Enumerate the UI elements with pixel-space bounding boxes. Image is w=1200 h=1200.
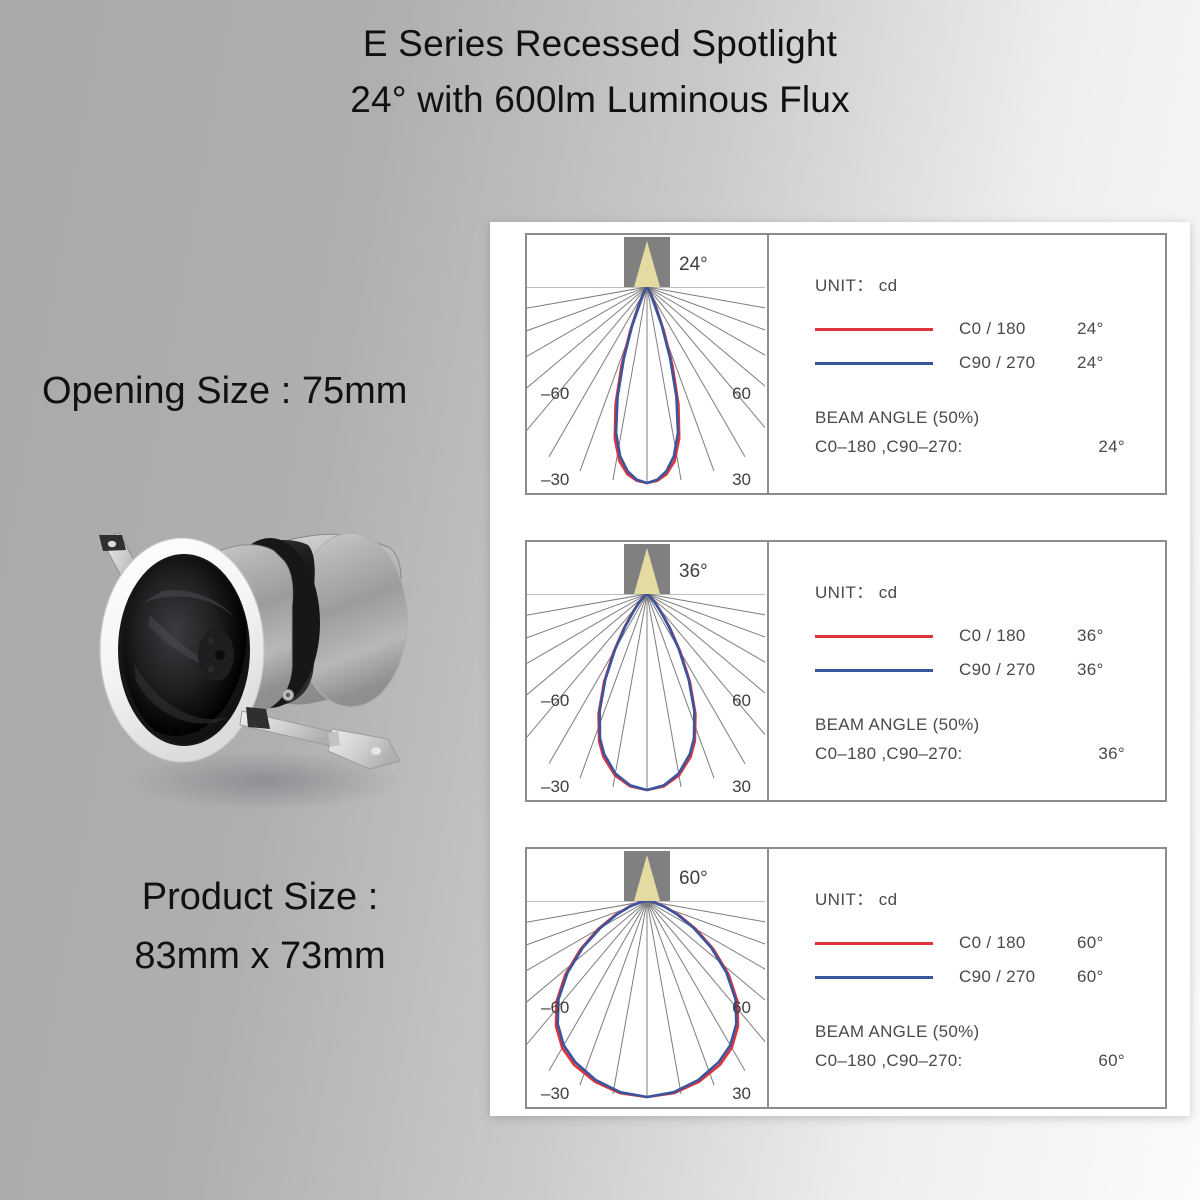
legend-label-c0: C0 / 180 bbox=[959, 933, 1077, 953]
beam-angle-value: 36° bbox=[1098, 744, 1125, 764]
beam-angle-block: BEAM ANGLE (50%) C0–180 ,C90–270: 60° bbox=[815, 1022, 1165, 1071]
legend-label-c90: C90 / 270 bbox=[959, 660, 1077, 680]
axis-tick-label: –60 bbox=[541, 691, 569, 710]
legend-24: UNIT： cd C0 / 180 24° C90 / 270 24° BEAM… bbox=[769, 235, 1165, 493]
legend-value-c90: 36° bbox=[1077, 660, 1104, 680]
beam-angle-title: BEAM ANGLE (50%) bbox=[815, 1022, 1165, 1042]
photometric-panel-24: 24°–6060–3030 UNIT： cd C0 / 180 24° C90 … bbox=[525, 233, 1167, 495]
legend-row-c0: C0 / 180 24° bbox=[815, 312, 1165, 346]
axis-tick-label: –30 bbox=[541, 470, 569, 489]
axis-tick-label: 30 bbox=[732, 777, 751, 796]
beam-angle-caption: 36° bbox=[679, 561, 708, 582]
beam-angle-caption: 24° bbox=[679, 254, 708, 275]
beam-angle-line: C0–180 ,C90–270: 60° bbox=[815, 1051, 1125, 1071]
title-line-1: E Series Recessed Spotlight bbox=[0, 16, 1200, 72]
polar-chart-60: 60°–6060–3030 bbox=[527, 849, 769, 1107]
axis-tick-label: 30 bbox=[732, 470, 751, 489]
photometric-panel-36: 36°–6060–3030 UNIT： cd C0 / 180 36° C90 … bbox=[525, 540, 1167, 802]
axis-tick-label: –30 bbox=[541, 1084, 569, 1103]
legend-value-c90: 24° bbox=[1077, 353, 1104, 373]
unit-label: UNIT： cd bbox=[815, 578, 1165, 603]
product-photo bbox=[70, 495, 440, 825]
polar-plot-svg: 36°–6060–3030 bbox=[527, 542, 765, 800]
product-size-value: 83mm x 73mm bbox=[60, 927, 460, 986]
legend-swatch-blue-icon bbox=[815, 362, 933, 365]
legend-row-c90: C90 / 270 24° bbox=[815, 346, 1165, 380]
legend-label-c0: C0 / 180 bbox=[959, 626, 1077, 646]
legend-row-c0: C0 / 180 60° bbox=[815, 926, 1165, 960]
title-line-2: 24° with 600lm Luminous Flux bbox=[0, 72, 1200, 128]
legend-36: UNIT： cd C0 / 180 36° C90 / 270 36° BEAM… bbox=[769, 542, 1165, 800]
body-screw bbox=[283, 690, 294, 701]
legend-value-c0: 60° bbox=[1077, 933, 1104, 953]
unit-label: UNIT： cd bbox=[815, 885, 1165, 910]
axis-tick-label: 60 bbox=[732, 998, 751, 1017]
beam-angle-block: BEAM ANGLE (50%) C0–180 ,C90–270: 36° bbox=[815, 715, 1165, 764]
beam-angle-title: BEAM ANGLE (50%) bbox=[815, 715, 1165, 735]
polar-chart-36: 36°–6060–3030 bbox=[527, 542, 769, 800]
legend-row-c90: C90 / 270 36° bbox=[815, 653, 1165, 687]
beam-angle-label: C0–180 ,C90–270: bbox=[815, 437, 1098, 457]
legend-value-c0: 36° bbox=[1077, 626, 1104, 646]
beam-angle-label: C0–180 ,C90–270: bbox=[815, 744, 1098, 764]
beam-angle-block: BEAM ANGLE (50%) C0–180 ,C90–270: 24° bbox=[815, 408, 1165, 457]
photometric-panel-60: 60°–6060–3030 UNIT： cd C0 / 180 60° C90 … bbox=[525, 847, 1167, 1109]
beam-angle-value: 60° bbox=[1098, 1051, 1125, 1071]
axis-tick-label: –30 bbox=[541, 777, 569, 796]
opening-size-label: Opening Size : 75mm bbox=[42, 370, 407, 413]
legend-swatch-blue-icon bbox=[815, 976, 933, 979]
product-size-label: Product Size : bbox=[60, 868, 460, 927]
legend-label-c0: C0 / 180 bbox=[959, 319, 1077, 339]
legend-swatch-red-icon bbox=[815, 328, 933, 331]
beam-angle-title: BEAM ANGLE (50%) bbox=[815, 408, 1165, 428]
legend-swatch-blue-icon bbox=[815, 669, 933, 672]
legend-swatch-red-icon bbox=[815, 942, 933, 945]
product-size-block: Product Size : 83mm x 73mm bbox=[60, 868, 460, 986]
polar-chart-24: 24°–6060–3030 bbox=[527, 235, 769, 493]
spotlight-illustration bbox=[70, 495, 440, 825]
polar-plot-svg: 60°–6060–3030 bbox=[527, 849, 765, 1107]
photometric-spec-card: 24°–6060–3030 UNIT： cd C0 / 180 24° C90 … bbox=[490, 222, 1190, 1116]
legend-label-c90: C90 / 270 bbox=[959, 353, 1077, 373]
axis-tick-label: 30 bbox=[732, 1084, 751, 1103]
axis-tick-label: –60 bbox=[541, 998, 569, 1017]
legend-value-c0: 24° bbox=[1077, 319, 1104, 339]
beam-angle-line: C0–180 ,C90–270: 36° bbox=[815, 744, 1125, 764]
reflector-cone bbox=[123, 557, 249, 743]
legend-label-c90: C90 / 270 bbox=[959, 967, 1077, 987]
axis-tick-label: 60 bbox=[732, 384, 751, 403]
legend-60: UNIT： cd C0 / 180 60° C90 / 270 60° BEAM… bbox=[769, 849, 1165, 1107]
beam-angle-label: C0–180 ,C90–270: bbox=[815, 1051, 1098, 1071]
legend-row-c0: C0 / 180 36° bbox=[815, 619, 1165, 653]
legend-row-c90: C90 / 270 60° bbox=[815, 960, 1165, 994]
unit-label: UNIT： cd bbox=[815, 271, 1165, 296]
beam-angle-value: 24° bbox=[1098, 437, 1125, 457]
legend-value-c90: 60° bbox=[1077, 967, 1104, 987]
axis-tick-label: 60 bbox=[732, 691, 751, 710]
beam-angle-line: C0–180 ,C90–270: 24° bbox=[815, 437, 1125, 457]
page-title: E Series Recessed Spotlight 24° with 600… bbox=[0, 16, 1200, 128]
axis-tick-label: –60 bbox=[541, 384, 569, 403]
legend-swatch-red-icon bbox=[815, 635, 933, 638]
polar-plot-svg: 24°–6060–3030 bbox=[527, 235, 765, 493]
beam-angle-caption: 60° bbox=[679, 868, 708, 889]
